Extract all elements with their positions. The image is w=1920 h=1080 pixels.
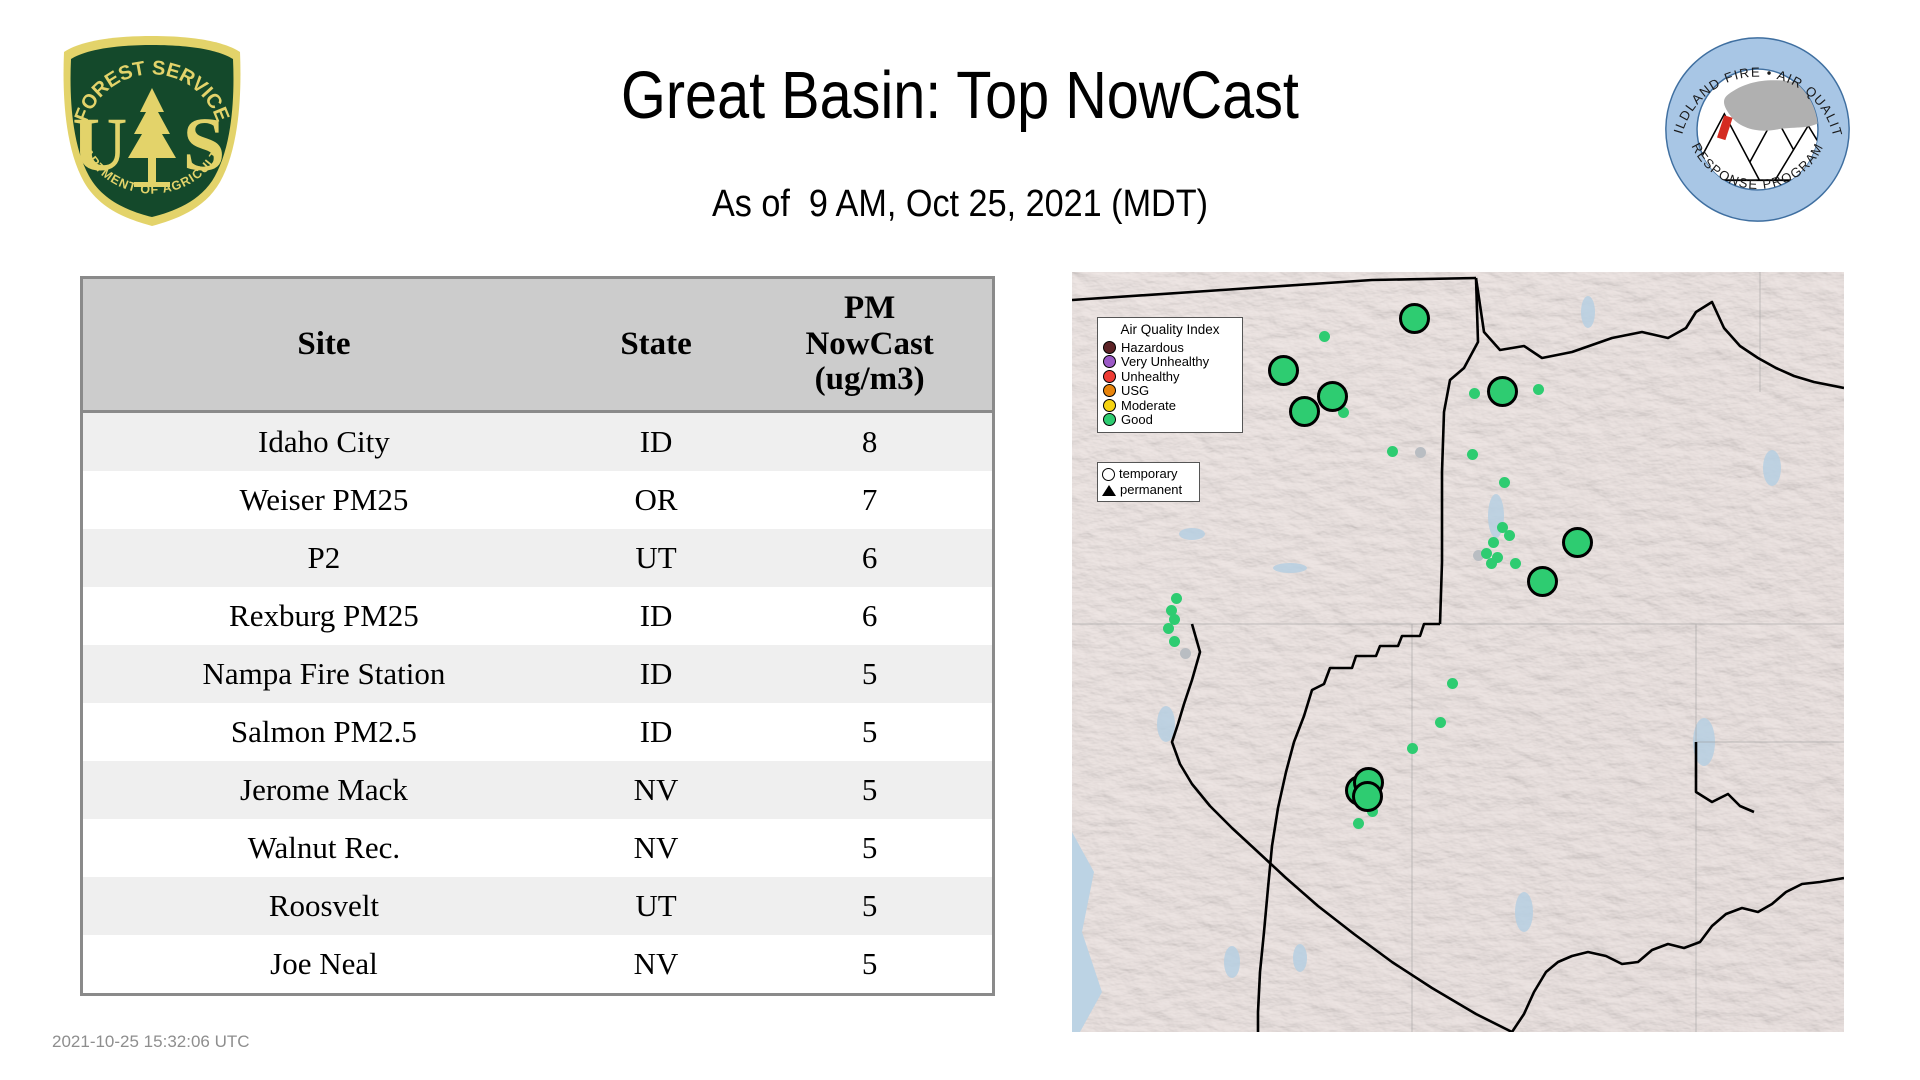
aqi-legend-label: USG bbox=[1121, 383, 1149, 398]
state-cell: NV bbox=[565, 935, 747, 995]
table-row: Rexburg PM25ID6 bbox=[82, 587, 994, 645]
monitor-dot-good bbox=[1510, 558, 1521, 569]
monitor-dot-good bbox=[1469, 388, 1480, 399]
aqi-color-swatch-icon bbox=[1103, 355, 1116, 368]
state-cell: ID bbox=[565, 587, 747, 645]
site-cell: P2 bbox=[82, 529, 565, 587]
pm-nowcast-cell: 6 bbox=[747, 587, 993, 645]
column-header-state: State bbox=[565, 278, 747, 412]
column-header-site: Site bbox=[82, 278, 565, 412]
aqi-color-swatch-icon bbox=[1103, 399, 1116, 412]
monitor-dot-good bbox=[1407, 743, 1418, 754]
aqi-legend-label: Moderate bbox=[1121, 398, 1176, 413]
state-cell: UT bbox=[565, 877, 747, 935]
table-row: Joe NealNV5 bbox=[82, 935, 994, 995]
monitor-dot-inactive bbox=[1415, 447, 1426, 458]
table-header: Site State PM NowCast (ug/m3) bbox=[82, 278, 994, 412]
monitor-dot-good bbox=[1171, 593, 1182, 604]
monitor-dot-good bbox=[1169, 636, 1180, 647]
table-row: Nampa Fire StationID5 bbox=[82, 645, 994, 703]
monitor-dot-good bbox=[1353, 818, 1364, 829]
pm-nowcast-cell: 5 bbox=[747, 877, 993, 935]
monitor-dot-good bbox=[1533, 384, 1544, 395]
pm-header-line-1: PM bbox=[751, 291, 988, 327]
aqi-legend-label: Hazardous bbox=[1121, 340, 1184, 355]
permanent-triangle-icon bbox=[1102, 485, 1116, 496]
site-cell: Rexburg PM25 bbox=[82, 587, 565, 645]
monitor-symbol-legend: temporary permanent bbox=[1097, 462, 1200, 502]
monitor-dot-inactive bbox=[1180, 648, 1191, 659]
site-cell: Joe Neal bbox=[82, 935, 565, 995]
aqi-legend-label: Unhealthy bbox=[1121, 369, 1180, 384]
permanent-label: permanent bbox=[1120, 482, 1182, 498]
site-cell: Walnut Rec. bbox=[82, 819, 565, 877]
aqi-legend-item: Moderate bbox=[1103, 398, 1237, 413]
state-cell: ID bbox=[565, 411, 747, 471]
aqi-legend-label: Good bbox=[1121, 412, 1153, 427]
pm-nowcast-cell: 5 bbox=[747, 819, 993, 877]
top-monitor-dot[interactable] bbox=[1352, 781, 1383, 812]
table-body: Idaho CityID8Weiser PM25OR7P2UT6Rexburg … bbox=[82, 411, 994, 994]
monitor-dot-good bbox=[1319, 331, 1330, 342]
monitor-dot-good bbox=[1488, 537, 1499, 548]
site-cell: Weiser PM25 bbox=[82, 471, 565, 529]
column-header-pm-nowcast: PM NowCast (ug/m3) bbox=[747, 278, 993, 412]
monitor-dot-good bbox=[1387, 446, 1398, 457]
state-cell: NV bbox=[565, 761, 747, 819]
page-title: Great Basin: Top NowCast bbox=[134, 62, 1785, 129]
table-row: Weiser PM25OR7 bbox=[82, 471, 994, 529]
aqi-legend: Air Quality Index HazardousVery Unhealth… bbox=[1097, 317, 1243, 433]
aqi-color-swatch-icon bbox=[1103, 341, 1116, 354]
site-cell: Jerome Mack bbox=[82, 761, 565, 819]
pm-nowcast-cell: 7 bbox=[747, 471, 993, 529]
legend-permanent: permanent bbox=[1102, 482, 1195, 498]
table-row: P2UT6 bbox=[82, 529, 994, 587]
pm-nowcast-cell: 5 bbox=[747, 761, 993, 819]
table-row: Salmon PM2.5ID5 bbox=[82, 703, 994, 761]
table-header-row: Site State PM NowCast (ug/m3) bbox=[82, 278, 994, 412]
aqi-legend-item: Unhealthy bbox=[1103, 369, 1237, 384]
site-cell: Nampa Fire Station bbox=[82, 645, 565, 703]
footer-timestamp: 2021-10-25 15:32:06 UTC bbox=[52, 1032, 250, 1052]
top-monitor-dot[interactable] bbox=[1562, 527, 1593, 558]
pm-nowcast-cell: 6 bbox=[747, 529, 993, 587]
monitor-dot-good bbox=[1504, 530, 1515, 541]
table-row: Jerome MackNV5 bbox=[82, 761, 994, 819]
top-monitor-dot[interactable] bbox=[1399, 303, 1430, 334]
aqi-color-swatch-icon bbox=[1103, 384, 1116, 397]
monitor-dot-good bbox=[1486, 558, 1497, 569]
state-cell: ID bbox=[565, 645, 747, 703]
top-monitor-dot[interactable] bbox=[1289, 396, 1320, 427]
great-basin-map[interactable]: Air Quality Index HazardousVery Unhealth… bbox=[1072, 272, 1844, 1032]
legend-temporary: temporary bbox=[1102, 466, 1195, 482]
aqi-legend-item: USG bbox=[1103, 383, 1237, 398]
aqi-color-swatch-icon bbox=[1103, 413, 1116, 426]
pm-nowcast-cell: 5 bbox=[747, 703, 993, 761]
temporary-label: temporary bbox=[1119, 466, 1178, 482]
state-cell: OR bbox=[565, 471, 747, 529]
table-row: RoosveltUT5 bbox=[82, 877, 994, 935]
monitor-dot-good bbox=[1499, 477, 1510, 488]
pm-nowcast-cell: 8 bbox=[747, 411, 993, 471]
monitor-dot-good bbox=[1481, 548, 1492, 559]
aqi-legend-label: Very Unhealthy bbox=[1121, 354, 1209, 369]
state-cell: UT bbox=[565, 529, 747, 587]
top-monitor-dot[interactable] bbox=[1527, 566, 1558, 597]
page-subtitle: As of 9 AM, Oct 25, 2021 (MDT) bbox=[96, 185, 1824, 223]
aqi-legend-title: Air Quality Index bbox=[1103, 322, 1237, 338]
site-cell: Idaho City bbox=[82, 411, 565, 471]
state-cell: NV bbox=[565, 819, 747, 877]
aqi-legend-item: Hazardous bbox=[1103, 340, 1237, 355]
monitor-dot-good bbox=[1447, 678, 1458, 689]
top-monitor-dot[interactable] bbox=[1317, 381, 1348, 412]
monitor-dot-good bbox=[1467, 449, 1478, 460]
nowcast-table: Site State PM NowCast (ug/m3) Idaho City… bbox=[80, 276, 995, 996]
table-row: Idaho CityID8 bbox=[82, 411, 994, 471]
temporary-circle-icon bbox=[1102, 468, 1115, 481]
aqi-color-swatch-icon bbox=[1103, 370, 1116, 383]
pm-header-line-3: (ug/m3) bbox=[751, 362, 988, 398]
aqi-legend-item: Very Unhealthy bbox=[1103, 354, 1237, 369]
pm-header-line-2: NowCast bbox=[751, 327, 988, 363]
monitor-dot-good bbox=[1163, 623, 1174, 634]
table-row: Walnut Rec.NV5 bbox=[82, 819, 994, 877]
pm-nowcast-cell: 5 bbox=[747, 645, 993, 703]
aqi-legend-rows: HazardousVery UnhealthyUnhealthyUSGModer… bbox=[1103, 340, 1237, 427]
site-cell: Roosvelt bbox=[82, 877, 565, 935]
monitor-dot-good bbox=[1435, 717, 1446, 728]
pm-nowcast-cell: 5 bbox=[747, 935, 993, 995]
site-cell: Salmon PM2.5 bbox=[82, 703, 565, 761]
top-monitor-dot[interactable] bbox=[1268, 355, 1299, 386]
aqi-legend-item: Good bbox=[1103, 412, 1237, 427]
state-cell: ID bbox=[565, 703, 747, 761]
top-monitor-dot[interactable] bbox=[1487, 376, 1518, 407]
